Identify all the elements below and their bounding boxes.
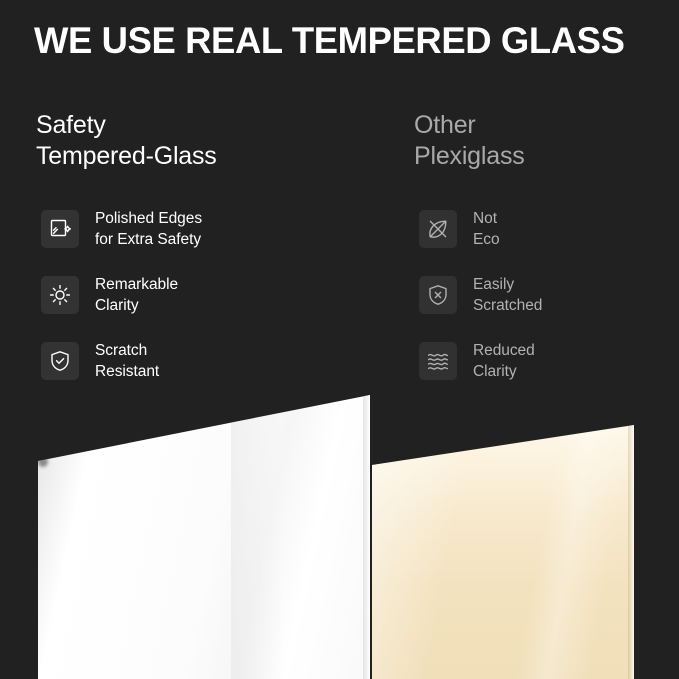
page-title: WE USE REAL TEMPERED GLASS	[34, 18, 645, 64]
feature-label: Reduced Clarity	[473, 340, 535, 382]
column-heading: Safety Tempered-Glass	[36, 110, 396, 172]
tempered-glass-panel-edge	[363, 395, 370, 679]
feature-item: Polished Edges for Extra Safety	[41, 210, 396, 276]
feature-list: Polished Edges for Extra Safety Remarkab…	[41, 210, 396, 408]
feature-label: Remarkable Clarity	[95, 274, 178, 316]
brightness-clarity-icon	[41, 276, 79, 314]
product-panels-illustration	[0, 395, 679, 679]
feature-item: Not Eco	[419, 210, 664, 276]
polished-edges-icon	[41, 210, 79, 248]
shield-check-icon	[41, 342, 79, 380]
feature-label: Not Eco	[473, 208, 500, 250]
glass-corner-shadow	[38, 457, 48, 467]
leaf-crossed-out-icon	[419, 210, 457, 248]
feature-item: Remarkable Clarity	[41, 276, 396, 342]
wavy-blur-icon	[419, 342, 457, 380]
comparison-column-tempered-glass: Safety Tempered-Glass Polished Edges for…	[36, 110, 396, 172]
plexiglass-panel	[372, 395, 634, 679]
feature-item: Easily Scratched	[419, 276, 664, 342]
column-heading: Other Plexiglass	[414, 110, 664, 172]
shield-x-icon	[419, 276, 457, 314]
feature-label: Polished Edges for Extra Safety	[95, 208, 202, 250]
feature-label: Scratch Resistant	[95, 340, 159, 382]
feature-label: Easily Scratched	[473, 274, 542, 316]
feature-list: Not Eco Easily Scratched	[419, 210, 664, 408]
infographic-canvas: WE USE REAL TEMPERED GLASS Safety Temper…	[0, 0, 679, 679]
tempered-glass-panel	[38, 395, 370, 679]
plexiglass-panel-edge	[628, 395, 634, 679]
comparison-column-plexiglass: Other Plexiglass Not Eco	[414, 110, 664, 172]
glass-reflection	[231, 395, 284, 679]
